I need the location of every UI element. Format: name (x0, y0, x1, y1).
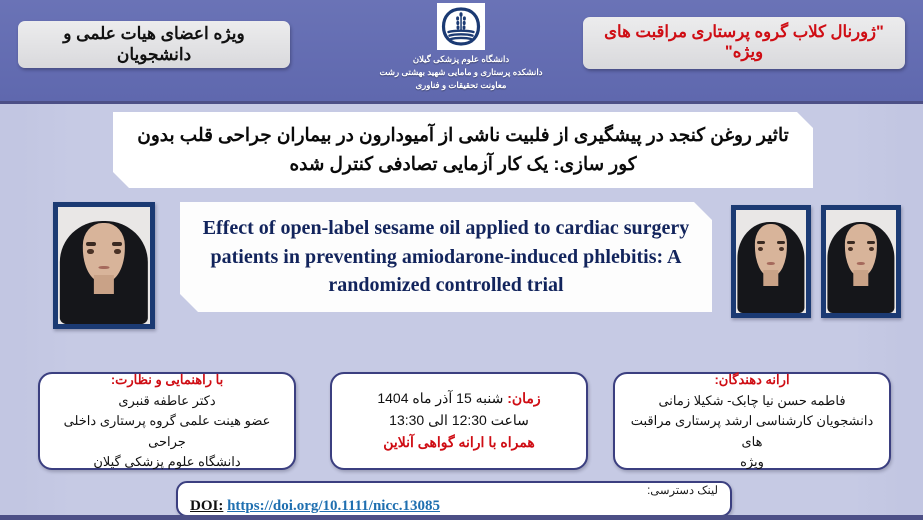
schedule-date: شنبه 15 آذر ماه 1404 (377, 390, 503, 406)
schedule-time: ساعت 12:30 الی 13:30 (389, 410, 529, 432)
presenters-role-line-1: دانشجویان کارشناسی ارشد پرستاری مراقبت ه… (624, 411, 880, 451)
schedule-date-row: زمان: شنبه 15 آذر ماه 1404 (377, 388, 540, 410)
presenters-info-box: ارانه دهندگان: فاطمه حسن نیا چابک- شکیلا… (613, 372, 891, 470)
poster-canvas: ویژه اعضای هیات علمی و دانشجویان (0, 0, 923, 520)
doi-link[interactable]: https://doi.org/10.1111/nicc.13085 (227, 498, 440, 514)
header-band: ویژه اعضای هیات علمی و دانشجویان (0, 0, 923, 104)
doi-label: DOI: (190, 498, 223, 514)
supervisor-name: دکتر عاطفه قنبری (118, 391, 215, 411)
university-line-1: دانشگاه علوم پزشکی گیلان (380, 53, 543, 66)
doi-bar: لینک دسترسی: DOI: https://doi.org/10.111… (176, 481, 732, 517)
supervisor-affiliation: عضو هینت علمی گروه پرستاری داخلی جراحی (49, 411, 285, 451)
university-branding: دانشگاه علوم پزشکی گیلان دانشکده پرستاری… (350, 3, 572, 93)
presenters-role-line-2: ویژه (740, 452, 764, 472)
supervisor-portrait (53, 202, 155, 329)
schedule-label: زمان: (507, 390, 540, 406)
supervisor-heading: با راهنمایی و نظارت: (111, 370, 223, 390)
portrait-image (826, 210, 896, 313)
persian-title: تاثیر روغن کنجد در پیشگیری از فلبیت ناشی… (113, 112, 813, 188)
supervisor-info-box: با راهنمایی و نظارت: دکتر عاطفه قنبری عض… (38, 372, 296, 470)
schedule-certificate-note: همراه با ارانه گواهی آنلاین (383, 432, 535, 454)
presenters-heading: ارانه دهندگان: (714, 370, 789, 390)
portrait-image (736, 210, 806, 313)
university-line-3: معاونت تحقیقات و فناوری (380, 79, 543, 92)
presenter-portrait-1 (731, 205, 811, 318)
doi-line: DOI: https://doi.org/10.1111/nicc.13085 (190, 497, 718, 515)
access-link-label: لینک دسترسی: (190, 484, 718, 498)
presenters-names: فاطمه حسن نیا چابک- شکیلا زمانی (658, 391, 845, 411)
english-title: Effect of open-label sesame oil applied … (180, 202, 712, 312)
university-name-lines: دانشگاه علوم پزشکی گیلان دانشکده پرستاری… (380, 53, 543, 93)
university-line-2: دانشکده پرستاری و مامایی شهید بهشتی رشت (380, 66, 543, 79)
journal-club-badge: "ژورنال کلاب گروه پرستاری مراقبت های ویژ… (583, 17, 905, 69)
university-seal-icon (437, 3, 485, 50)
presenter-portrait-2 (821, 205, 901, 318)
supervisor-university: دانشگاه علوم پزشکی گیلان (93, 452, 240, 472)
audience-badge: ویژه اعضای هیات علمی و دانشجویان (18, 21, 290, 68)
schedule-info-box: زمان: شنبه 15 آذر ماه 1404 ساعت 12:30 ال… (330, 372, 588, 470)
portrait-image (58, 207, 150, 324)
